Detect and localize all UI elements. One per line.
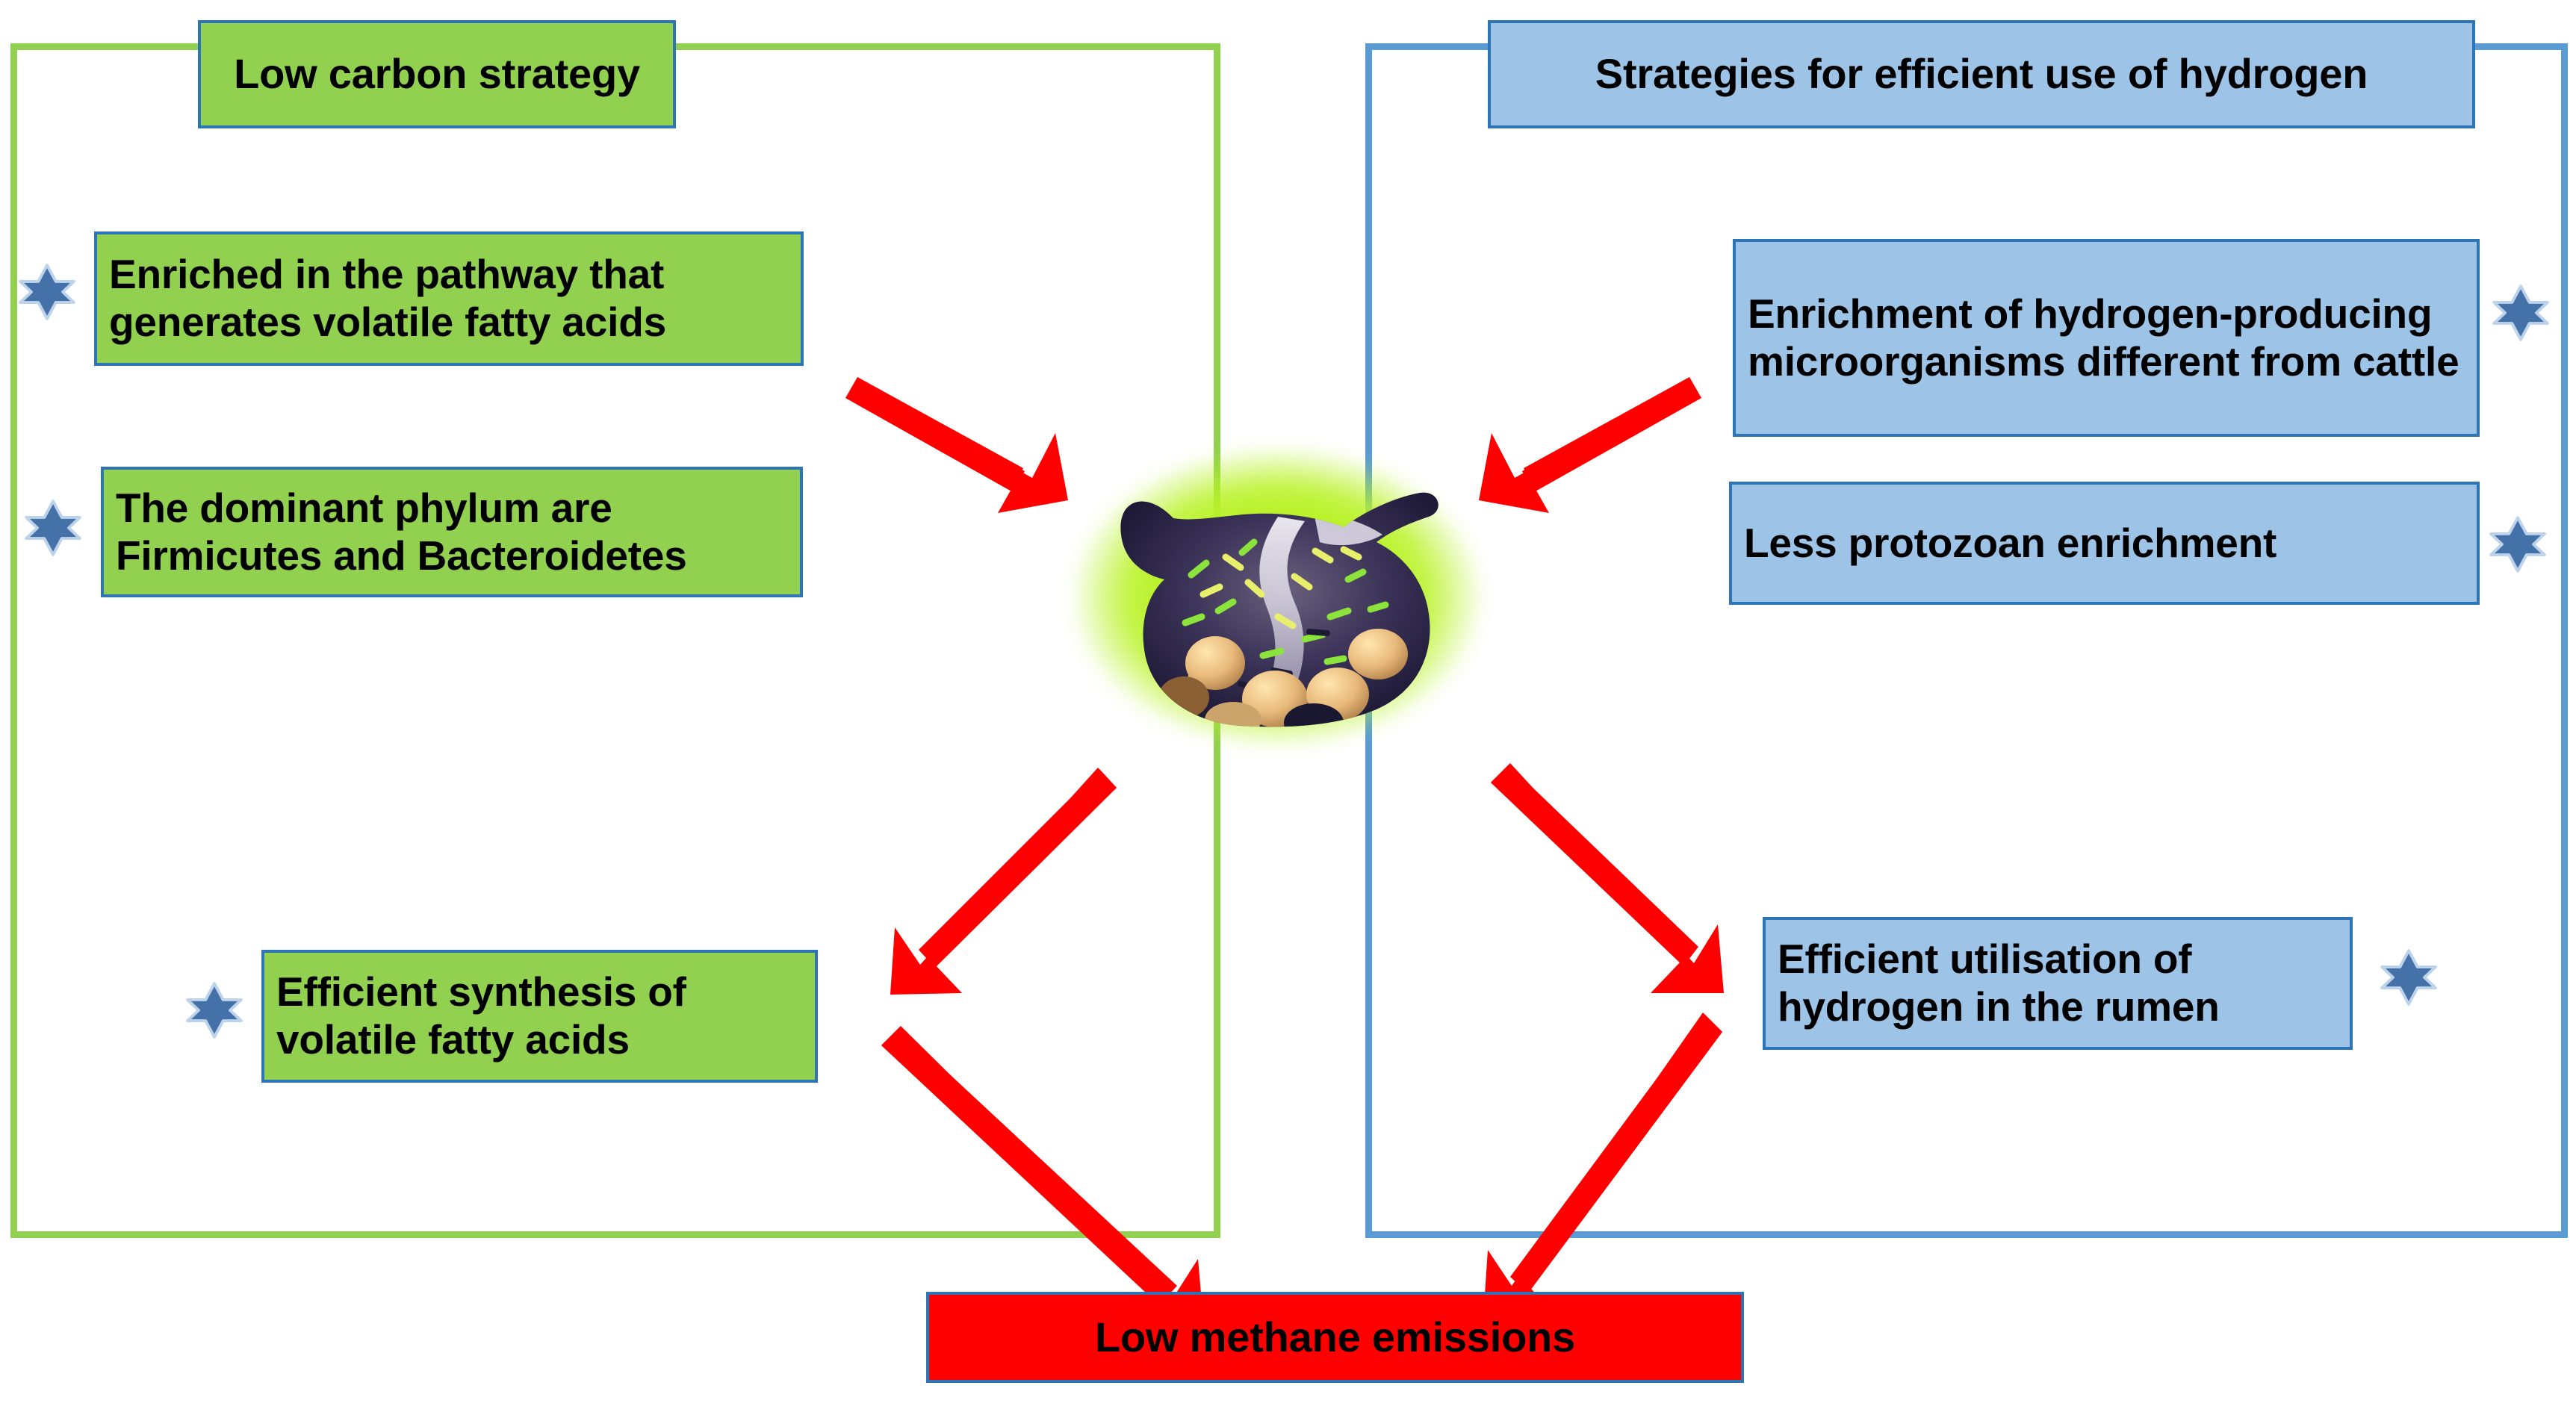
right-item-1-label: Enrichment of hydrogen-producing microor… bbox=[1748, 290, 2469, 386]
right-item-3-label: Efficient utilisation of hydrogen in the… bbox=[1778, 936, 2342, 1031]
left-group-header-label: Low carbon strategy bbox=[201, 50, 673, 99]
six-point-star-icon bbox=[24, 499, 82, 557]
left-item-2-label: The dominant phylum are Firmicutes and B… bbox=[116, 485, 792, 580]
right-group-header: Strategies for efficient use of hydrogen bbox=[1488, 20, 2475, 128]
diagram-canvas: Low carbon strategy Enriched in the path… bbox=[0, 0, 2576, 1409]
six-point-star-icon bbox=[18, 263, 76, 321]
six-point-star-icon bbox=[2380, 948, 2438, 1007]
rumen-icon bbox=[1102, 463, 1453, 732]
six-point-star-icon bbox=[2489, 515, 2547, 573]
right-group-header-label: Strategies for efficient use of hydrogen bbox=[1491, 50, 2472, 99]
left-item-1[interactable]: Enriched in the pathway that generates v… bbox=[94, 231, 804, 366]
right-item-3[interactable]: Efficient utilisation of hydrogen in the… bbox=[1763, 917, 2353, 1050]
outcome-box[interactable]: Low methane emissions bbox=[926, 1292, 1744, 1383]
left-item-3-label: Efficient synthesis of volatile fatty ac… bbox=[276, 968, 807, 1064]
outcome-label: Low methane emissions bbox=[929, 1313, 1741, 1362]
rumen-illustration bbox=[1046, 426, 1509, 769]
left-group-header: Low carbon strategy bbox=[198, 20, 676, 128]
left-item-2[interactable]: The dominant phylum are Firmicutes and B… bbox=[101, 467, 803, 597]
six-point-star-icon bbox=[2492, 284, 2550, 342]
right-item-2[interactable]: Less protozoan enrichment bbox=[1729, 482, 2480, 605]
right-item-1[interactable]: Enrichment of hydrogen-producing microor… bbox=[1733, 239, 2480, 437]
right-group-frame bbox=[1365, 43, 2568, 1238]
left-item-3[interactable]: Efficient synthesis of volatile fatty ac… bbox=[261, 950, 818, 1083]
six-point-star-icon bbox=[185, 981, 243, 1039]
left-item-1-label: Enriched in the pathway that generates v… bbox=[109, 251, 793, 346]
right-item-2-label: Less protozoan enrichment bbox=[1744, 520, 2469, 567]
